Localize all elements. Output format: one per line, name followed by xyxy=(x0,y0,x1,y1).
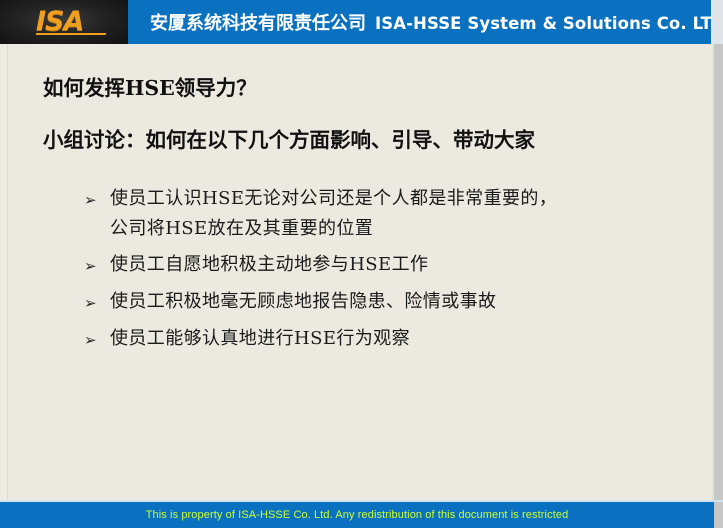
header-company-en: ISA-HSSE System & Solutions Co. LTD xyxy=(375,14,723,33)
slide-header: ISA 安厦系统科技有限责任公司ISA-HSSE System & Soluti… xyxy=(0,0,723,44)
header-title: 安厦系统科技有限责任公司ISA-HSSE System & Solutions … xyxy=(150,9,723,35)
header-company-cn: 安厦系统科技有限责任公司 xyxy=(150,13,366,34)
slide-canvas: ISA 安厦系统科技有限责任公司ISA-HSSE System & Soluti… xyxy=(0,0,723,528)
list-item: ➢ 使员工自愿地积极主动地参与HSE工作 xyxy=(84,250,704,281)
list-item-text: 使员工认识HSE无论对公司还是个人都是非常重要的， 公司将HSE放在及其重要的位… xyxy=(110,184,704,244)
slide-heading-primary: 如何发挥HSE领导力？ xyxy=(43,71,257,101)
list-item-line-1: 使员工自愿地积极主动地参与HSE工作 xyxy=(110,254,428,275)
header-right-edge xyxy=(713,0,723,44)
bullet-list: ➢ 使员工认识HSE无论对公司还是个人都是非常重要的， 公司将HSE放在及其重要… xyxy=(84,184,704,361)
list-item-line-1: 使员工认识HSE无论对公司还是个人都是非常重要的， xyxy=(110,188,557,209)
list-item-line-2: 公司将HSE放在及其重要的位置 xyxy=(110,214,704,244)
isa-logo-underline xyxy=(36,33,107,35)
arrow-bullet-icon: ➢ xyxy=(84,250,110,281)
slide-body: 如何发挥HSE领导力？ 小组讨论：如何在以下几个方面影响、引导、带动大家 ➢ 使… xyxy=(0,44,723,500)
list-item-line-1: 使员工积极地毫无顾虑地报告隐患、险情或事故 xyxy=(110,291,496,312)
arrow-bullet-icon: ➢ xyxy=(84,184,110,215)
footer-copyright-text: This is property of ISA-HSSE Co. Ltd. An… xyxy=(0,502,714,528)
list-item-text: 使员工能够认真地进行HSE行为观察 xyxy=(110,324,704,354)
list-item-text: 使员工积极地毫无顾虑地报告隐患、险情或事故 xyxy=(110,287,704,317)
slide-footer: This is property of ISA-HSSE Co. Ltd. An… xyxy=(0,500,723,528)
list-item: ➢ 使员工积极地毫无顾虑地报告隐患、险情或事故 xyxy=(84,287,704,318)
list-item: ➢ 使员工能够认真地进行HSE行为观察 xyxy=(84,324,704,355)
header-blue-bar: 安厦系统科技有限责任公司ISA-HSSE System & Solutions … xyxy=(128,0,713,44)
list-item: ➢ 使员工认识HSE无论对公司还是个人都是非常重要的， 公司将HSE放在及其重要… xyxy=(84,184,704,244)
arrow-bullet-icon: ➢ xyxy=(84,324,110,355)
footer-right-edge xyxy=(714,502,723,528)
list-item-line-1: 使员工能够认真地进行HSE行为观察 xyxy=(110,328,410,349)
isa-logo: ISA xyxy=(0,0,128,44)
list-item-text: 使员工自愿地积极主动地参与HSE工作 xyxy=(110,250,704,280)
slide-heading-secondary: 小组讨论：如何在以下几个方面影响、引导、带动大家 xyxy=(43,123,535,153)
arrow-bullet-icon: ➢ xyxy=(84,287,110,318)
